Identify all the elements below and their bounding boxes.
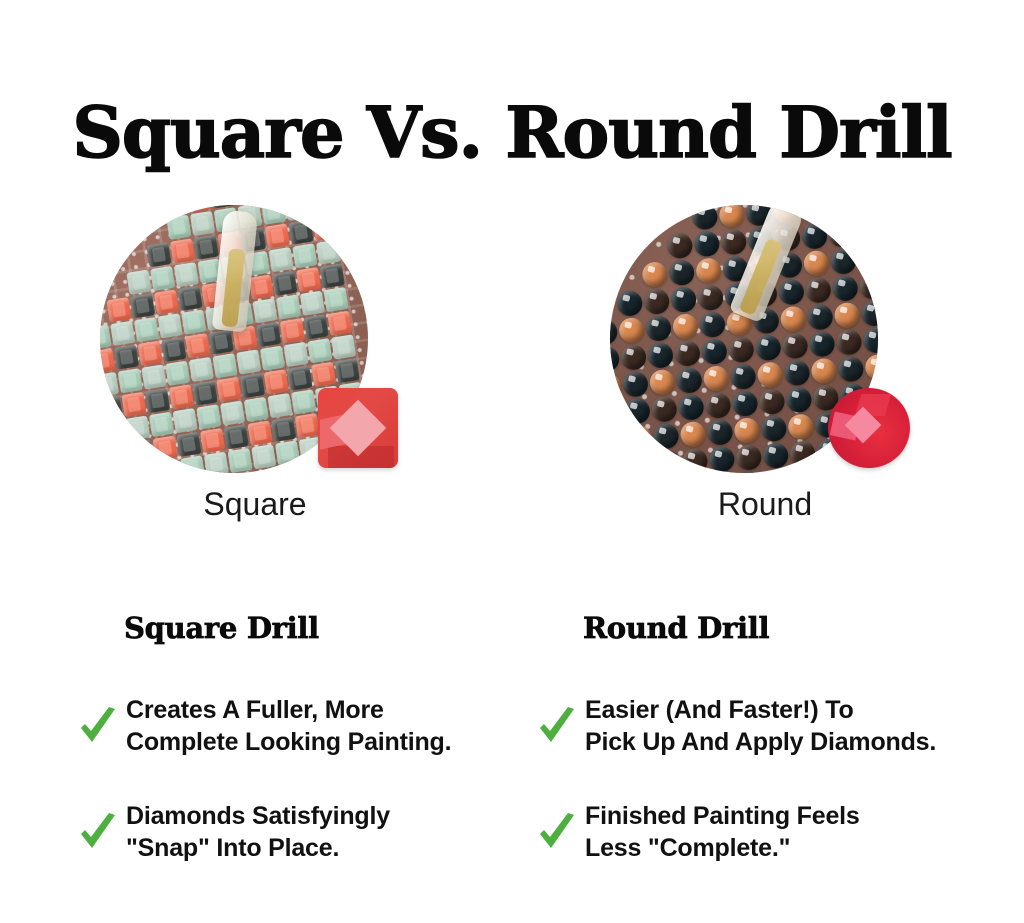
round-drill [670,286,697,313]
round-drill [755,334,782,361]
square-drill [240,373,265,398]
round-drill [830,248,857,275]
square-drill [228,448,253,473]
square-drill [209,329,234,354]
list-item-label: Finished Painting Feels Less "Complete." [585,800,860,864]
square-drill [287,366,312,391]
round-drill [620,344,647,371]
round-drill-heading: Round Drill [583,611,769,645]
round-drill [626,425,653,452]
round-drill [647,342,674,369]
square-drill [269,247,294,272]
round-drill [859,273,878,300]
round-drill [838,356,865,383]
round-drill [863,327,878,354]
square-drill [193,381,218,406]
round-drill [643,288,670,315]
square-drill-heading: Square Drill [124,611,319,645]
round-drill [653,423,680,450]
square-drill [100,348,115,373]
square-drill [252,298,277,323]
round-drill [649,369,676,396]
list-item: Diamonds Satisfyingly "Snap" Into Place. [78,800,498,864]
round-drill [676,367,703,394]
round-drill [674,340,701,367]
square-drill [276,294,301,319]
square-drill [180,455,205,473]
round-drill [703,365,730,392]
square-drill [158,313,183,338]
round-drill [759,388,786,415]
square-drill [130,293,155,318]
square-drill [335,358,360,383]
square-drill [292,243,317,268]
round-drill [697,284,724,311]
page-title: Square Vs. Round Drill [0,93,1024,173]
square-drill [145,388,170,413]
round-gem [828,388,910,468]
round-drill [707,419,734,446]
square-drill [138,341,163,366]
square-drill [114,344,139,369]
square-drill [129,439,154,464]
round-drill [760,415,787,442]
square-drill [323,287,348,312]
round-drill [624,398,651,425]
round-drill [628,452,655,473]
square-drill [271,417,296,442]
round-drill [861,300,878,327]
square-drill [150,266,175,291]
square-drill [272,271,297,296]
round-drill [811,358,838,385]
square-drill [189,357,214,382]
square-drill [105,443,130,468]
square-drill [101,419,126,444]
square-drill [300,291,325,316]
round-drill [645,315,672,342]
round-drill-benefits-list: Easier (And Faster!) To Pick Up And Appl… [537,694,957,906]
square-drill [224,424,249,449]
square-drill [156,459,181,473]
square-drill [275,440,300,465]
round-drill [692,205,719,230]
square-drill [251,444,276,469]
round-drill [610,427,626,454]
square-drill [165,361,190,386]
square-drill [176,432,201,457]
infographic-page: Square Vs. Round Drill [0,0,1024,923]
square-drill [181,309,206,334]
round-drill [836,329,863,356]
check-icon [78,810,118,854]
round-drill [610,400,624,427]
square-drill [106,297,131,322]
round-drill [789,440,816,467]
round-drill [610,373,622,400]
square-drill [261,205,286,225]
round-drill [805,277,832,304]
square-drill [291,389,316,414]
round-drill [832,275,859,302]
square-drill [100,372,119,397]
round-drill [641,261,668,288]
square-drill [170,238,195,263]
round-drill [762,442,789,469]
square-drill [304,314,329,339]
round-drill [782,333,809,360]
round-drill [834,302,861,329]
square-photo-caption: Square [90,485,420,523]
round-drill [809,331,836,358]
square-drill [320,263,345,288]
square-drill [174,262,199,287]
round-drill [803,250,830,277]
round-drill [680,421,707,448]
square-drill [133,463,158,473]
square-drill [295,413,320,438]
square-drill [141,364,166,389]
round-drill [818,465,845,473]
square-drill [178,286,203,311]
round-drill [735,444,762,471]
check-icon [537,704,577,748]
round-drill [701,338,728,365]
square-drill [216,377,241,402]
round-drill [857,246,878,273]
round-drill [737,471,764,473]
list-item: Creates A Fuller, More Complete Looking … [78,694,498,758]
square-drill [327,311,352,336]
square-drill [173,408,198,433]
list-item-label: Creates A Fuller, More Complete Looking … [126,694,451,758]
square-drill [100,396,123,421]
square-drill [126,270,151,295]
square-drill [118,368,143,393]
square-drill [331,334,356,359]
round-drill [618,317,645,344]
square-drill [194,235,219,260]
square-drill [125,416,150,441]
square-drill [134,317,159,342]
square-drill [285,205,310,221]
round-drill [666,232,693,259]
check-icon [537,810,577,854]
square-drill [212,353,237,378]
round-drill [764,469,791,473]
square-drill [154,290,179,315]
round-drill [699,311,726,338]
round-drill [784,360,811,387]
round-drill [855,219,878,246]
square-gem [318,388,398,468]
square-drill [265,223,290,248]
square-drill [307,338,332,363]
list-item-label: Easier (And Faster!) To Pick Up And Appl… [585,694,936,758]
square-drill [220,401,245,426]
square-drill [166,215,191,240]
round-drill [807,304,834,331]
round-photo-caption: Round [600,485,930,523]
round-drill [655,450,682,473]
square-drill [289,220,314,245]
round-drill [708,446,735,473]
round-drill [780,306,807,333]
round-drill [778,279,805,306]
round-drill [672,313,699,340]
round-drill [622,371,649,398]
round-drill [791,467,818,473]
round-drill [786,386,813,413]
square-drill [312,216,337,241]
square-drill [311,362,336,387]
square-drill [264,369,289,394]
round-drill-photo-block [600,190,930,490]
list-item: Finished Painting Feels Less "Complete." [537,800,957,864]
square-drill [200,428,225,453]
square-drill [247,420,272,445]
list-item: Easier (And Faster!) To Pick Up And Appl… [537,694,957,758]
round-drill [651,396,678,423]
square-drill [244,397,269,422]
round-drill [616,290,643,317]
square-drill-benefits-list: Creates A Fuller, More Complete Looking … [78,694,498,906]
pen-wax [221,248,245,327]
round-drill [610,454,627,473]
round-drill [730,363,757,390]
square-drill [260,346,285,371]
round-drill [678,394,705,421]
square-drill [161,337,186,362]
round-drill [734,417,761,444]
square-drill [169,384,194,409]
round-drill [720,229,747,256]
square-drill [204,452,229,473]
square-drill [146,242,171,267]
round-drill [828,221,855,248]
square-drill [110,321,135,346]
square-drill [236,349,261,374]
round-drill [610,319,618,346]
round-drill [610,346,620,373]
round-drill [799,205,826,223]
square-drill [316,240,341,265]
round-drill [693,231,720,258]
square-drill [185,333,210,358]
square-drill [153,436,178,461]
round-drill [801,223,828,250]
list-item-label: Diamonds Satisfyingly "Snap" Into Place. [126,800,390,864]
square-drill [121,392,146,417]
round-drill [705,392,732,419]
round-drill [682,448,709,473]
round-drill [668,259,695,286]
round-drill [695,257,722,284]
square-drill [296,267,321,292]
check-icon [78,704,118,748]
round-drill [864,354,878,381]
round-drill [757,361,784,388]
square-drill [256,322,281,347]
square-drill [284,342,309,367]
square-drill [196,404,221,429]
square-drill [280,318,305,343]
square-drill [190,211,215,236]
round-drill [732,390,759,417]
round-drill [728,336,755,363]
round-drill [787,413,814,440]
square-drill [267,393,292,418]
square-drill-photo-block [90,190,420,490]
square-drill [249,275,274,300]
round-drill [718,205,745,228]
round-drill [826,205,853,221]
square-drill [149,412,174,437]
